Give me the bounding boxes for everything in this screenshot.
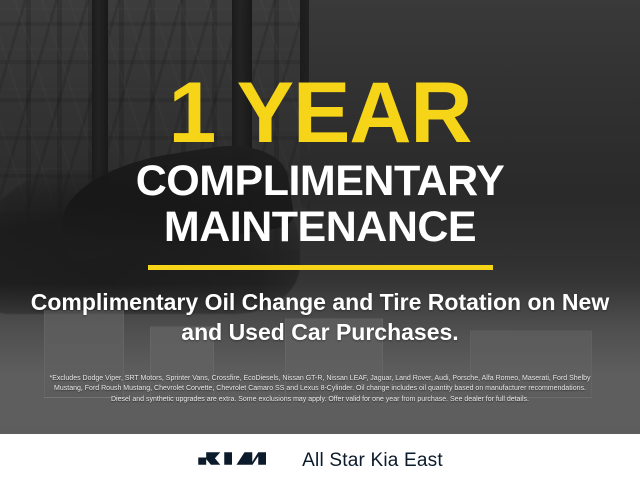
headline-maintenance: MAINTENANCE — [164, 206, 476, 250]
yellow-divider-rule — [148, 265, 493, 270]
dealer-name: All Star Kia East — [302, 450, 443, 472]
disclaimer-text: *Excludes Dodge Viper, SRT Motors, Sprin… — [39, 374, 600, 404]
subheadline: Complimentary Oil Change and Tire Rotati… — [20, 288, 620, 347]
footer-bar: All Star Kia East — [0, 434, 640, 488]
headline-year: 1 YEAR — [168, 76, 471, 152]
banner-content: 1 YEAR COMPLIMENTARY MAINTENANCE Complim… — [0, 0, 640, 434]
disclaimer-line-2: Mustang, Ford Roush Mustang, Chevrolet C… — [49, 384, 590, 394]
kia-logo-icon — [197, 447, 283, 476]
disclaimer-line-3: Diesel and synthetic upgrades are extra.… — [49, 395, 590, 405]
headline-complimentary: COMPLIMENTARY — [136, 160, 505, 204]
disclaimer-line-1: *Excludes Dodge Viper, SRT Motors, Sprin… — [49, 374, 590, 384]
promotional-banner: 1 YEAR COMPLIMENTARY MAINTENANCE Complim… — [0, 0, 640, 488]
